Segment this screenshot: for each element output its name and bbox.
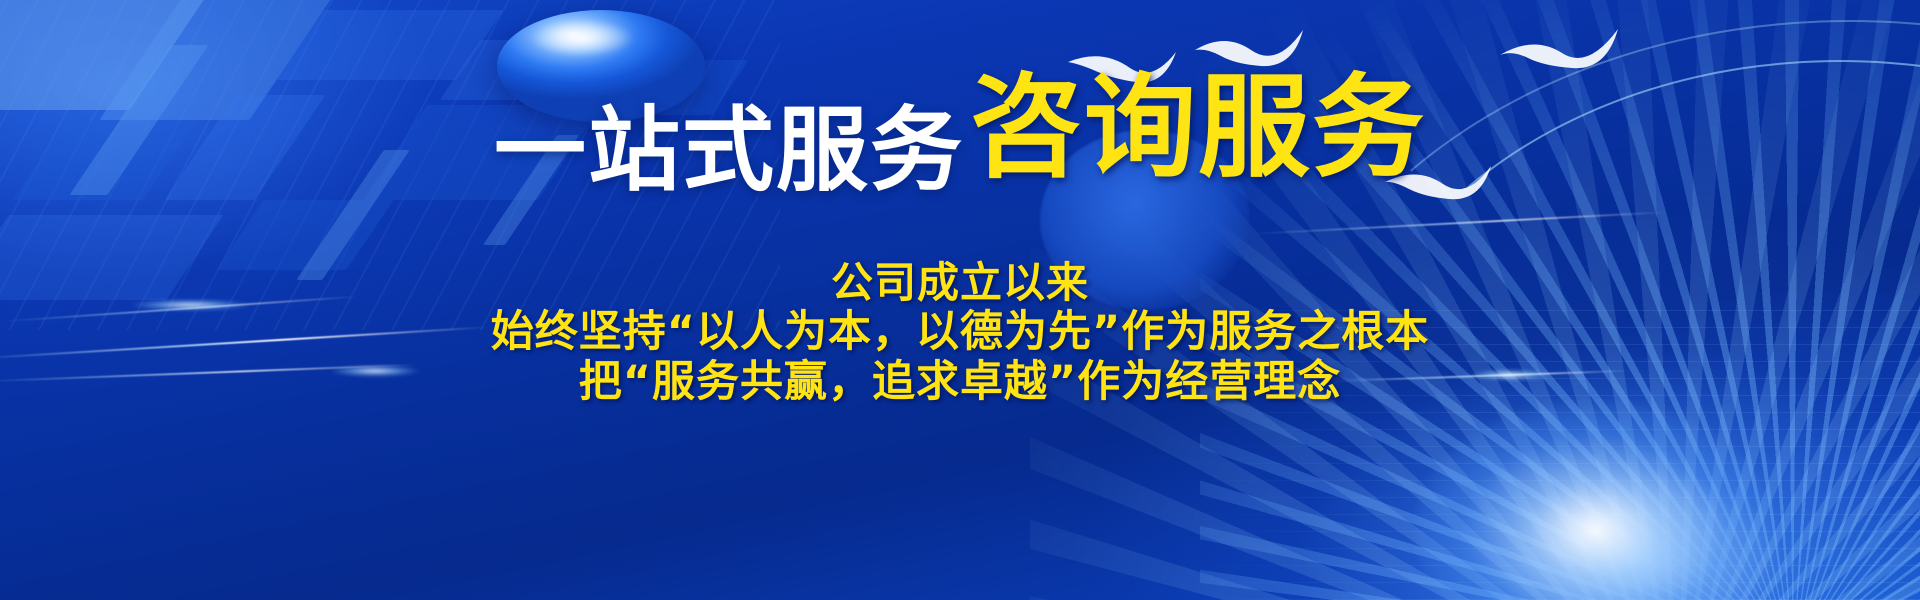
headline-accent: 咨询服务 <box>970 63 1426 193</box>
subtitle-line: 公司成立以来 <box>0 258 1920 307</box>
promo-banner: 一站式服务咨询服务 公司成立以来 始终坚持“以人为本，以德为先”作为服务之根本 … <box>0 0 1920 600</box>
headline: 一站式服务咨询服务 <box>0 88 1920 200</box>
subtitle-line: 始终坚持“以人为本，以德为先”作为服务之根本 <box>0 307 1920 357</box>
subtitle-block: 公司成立以来 始终坚持“以人为本，以德为先”作为服务之根本 把“服务共赢，追求卓… <box>0 258 1920 408</box>
headline-primary: 一站式服务 <box>494 97 964 204</box>
subtitle-line: 把“服务共赢，追求卓越”作为经营理念 <box>0 357 1920 407</box>
